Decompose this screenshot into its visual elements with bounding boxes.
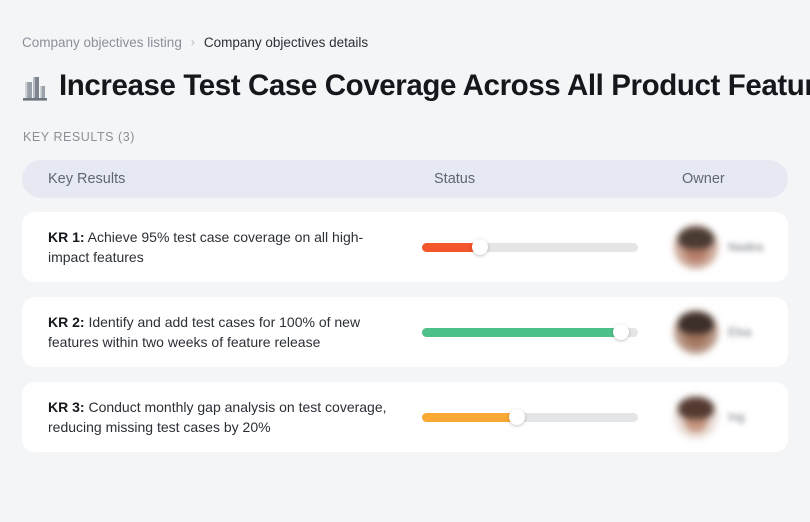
key-result-label: KR 2: — [48, 314, 85, 330]
progress-slider[interactable] — [422, 328, 638, 337]
key-result-description: KR 1: Achieve 95% test case coverage on … — [22, 227, 412, 267]
table-row[interactable]: KR 2: Identify and add test cases for 10… — [22, 297, 788, 367]
key-result-description: KR 3: Conduct monthly gap analysis on te… — [22, 397, 412, 437]
office-building-icon — [22, 73, 48, 103]
table-body: KR 1: Achieve 95% test case coverage on … — [22, 212, 788, 452]
owner-cell: Nadira — [638, 225, 788, 269]
key-result-text: Achieve 95% test case coverage on all hi… — [48, 229, 363, 265]
avatar[interactable] — [674, 310, 718, 354]
status-cell — [412, 243, 638, 252]
slider-fill — [422, 413, 517, 422]
breadcrumb: Company objectives listing › Company obj… — [22, 34, 788, 52]
status-cell — [412, 413, 638, 422]
key-result-label: KR 3: — [48, 399, 85, 415]
page-title-row: Increase Test Case Coverage Across All P… — [22, 68, 788, 104]
column-header-key-results: Key Results — [22, 171, 412, 187]
objective-details-page: Company objectives listing › Company obj… — [0, 0, 810, 522]
slider-thumb[interactable] — [472, 239, 488, 255]
column-header-owner: Owner — [638, 171, 788, 187]
key-result-description: KR 2: Identify and add test cases for 10… — [22, 312, 412, 352]
owner-name: Nadira — [728, 240, 763, 254]
slider-thumb[interactable] — [509, 409, 525, 425]
breadcrumb-current-details: Company objectives details — [204, 34, 368, 52]
table-row[interactable]: KR 3: Conduct monthly gap analysis on te… — [22, 382, 788, 452]
owner-cell: Ing — [638, 395, 788, 439]
key-result-label: KR 1: — [48, 229, 85, 245]
key-results-table: Key Results Status Owner KR 1: Achieve 9… — [22, 160, 788, 452]
slider-thumb[interactable] — [613, 324, 629, 340]
status-cell — [412, 328, 638, 337]
breadcrumb-link-listing[interactable]: Company objectives listing — [22, 34, 182, 52]
owner-name: Elsa — [728, 325, 751, 339]
avatar[interactable] — [674, 225, 718, 269]
progress-slider[interactable] — [422, 413, 638, 422]
avatar-hair — [678, 312, 713, 334]
avatar-hair — [678, 397, 713, 419]
owner-cell: Elsa — [638, 310, 788, 354]
chevron-right-icon: › — [191, 36, 195, 48]
column-header-status: Status — [412, 171, 638, 187]
owner-name: Ing — [728, 410, 745, 424]
table-row[interactable]: KR 1: Achieve 95% test case coverage on … — [22, 212, 788, 282]
avatar[interactable] — [674, 395, 718, 439]
slider-fill — [422, 328, 621, 337]
key-results-section-label: KEY RESULTS (3) — [22, 130, 788, 144]
key-result-text: Identify and add test cases for 100% of … — [48, 314, 360, 350]
page-title: Increase Test Case Coverage Across All P… — [59, 68, 810, 104]
progress-slider[interactable] — [422, 243, 638, 252]
avatar-hair — [678, 227, 713, 249]
table-header-row: Key Results Status Owner — [22, 160, 788, 198]
key-result-text: Conduct monthly gap analysis on test cov… — [48, 399, 387, 435]
